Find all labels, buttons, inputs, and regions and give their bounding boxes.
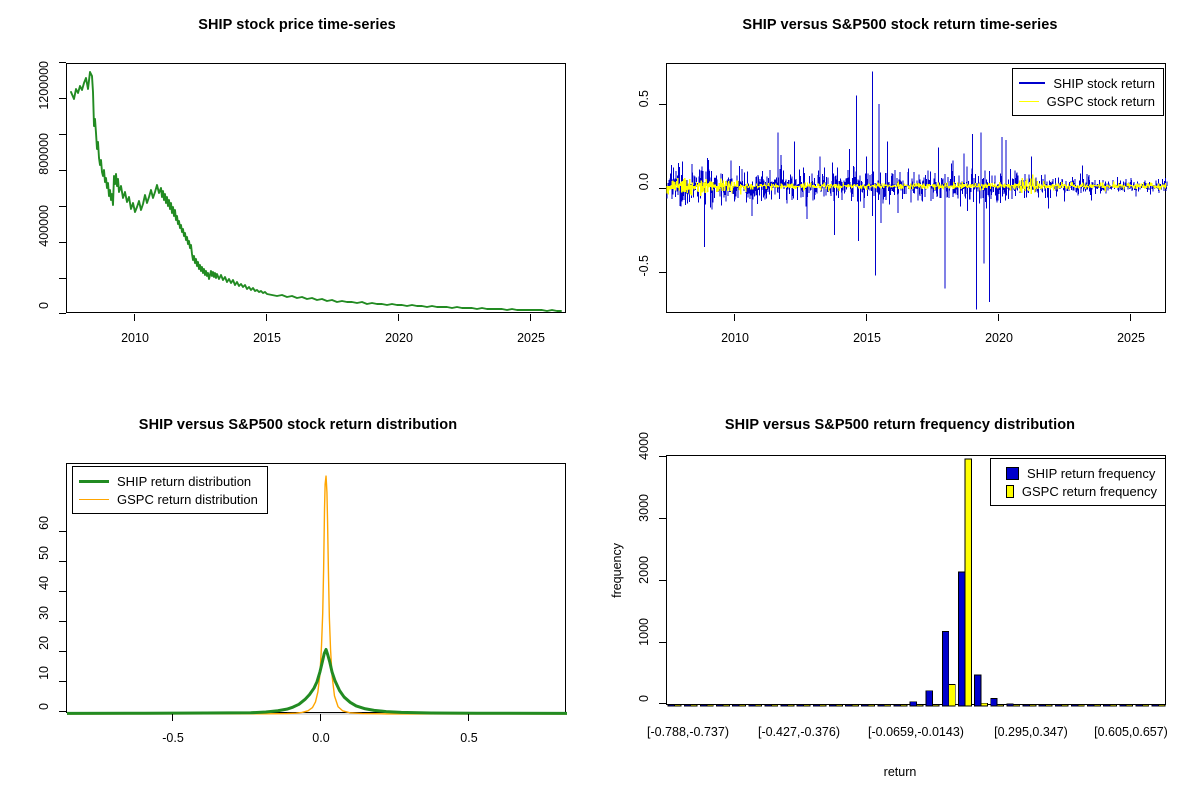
legend-item: SHIP return distribution bbox=[79, 472, 259, 490]
y-tick-label: 1200000 bbox=[37, 61, 51, 110]
x-tick-label: 2020 bbox=[385, 331, 413, 345]
x-tick-label: 2015 bbox=[253, 331, 281, 345]
y-tickmark bbox=[59, 711, 66, 712]
x-tickmark bbox=[1130, 314, 1131, 321]
legend-label: SHIP stock return bbox=[1053, 77, 1155, 90]
legend-item: SHIP return frequency bbox=[997, 464, 1157, 482]
y-tick-label: 400000 bbox=[37, 205, 51, 247]
y-tick-label: 10 bbox=[37, 666, 51, 680]
y-tick-label: 20 bbox=[37, 636, 51, 650]
panel-title: SHIP versus S&P500 return frequency dist… bbox=[600, 417, 1200, 433]
y-tickmark bbox=[659, 580, 666, 581]
panel-ship-vs-gspc-return-timeseries: SHIP versus S&P500 stock return time-ser… bbox=[600, 0, 1200, 400]
y-tickmark bbox=[659, 642, 666, 643]
x-tickmark bbox=[134, 314, 135, 321]
legend-label: GSPC return frequency bbox=[1022, 485, 1157, 498]
legend-item: SHIP stock return bbox=[1019, 74, 1155, 92]
x-tick-label: 2010 bbox=[721, 331, 749, 345]
x-tickmark bbox=[172, 714, 173, 721]
y-tickmark bbox=[59, 134, 66, 135]
legend-label: GSPC return distribution bbox=[117, 493, 258, 506]
panel-title: SHIP versus S&P500 stock return distribu… bbox=[0, 417, 600, 433]
x-tickmark bbox=[866, 314, 867, 321]
y-tickmark bbox=[659, 104, 666, 105]
y-tick-label: 40 bbox=[37, 576, 51, 590]
y-tickmark bbox=[59, 278, 66, 279]
panel-ship-price-timeseries: SHIP stock price time-series 0 400000 80… bbox=[0, 0, 600, 400]
y-tick-label: 60 bbox=[37, 516, 51, 530]
y-tick-label: 0.0 bbox=[637, 173, 651, 190]
y-tickmark bbox=[59, 206, 66, 207]
y-tickmark bbox=[59, 170, 66, 171]
y-tick-label: 0 bbox=[37, 703, 51, 710]
y-tick-label: 0 bbox=[637, 695, 651, 702]
x-tick-label: 2010 bbox=[121, 331, 149, 345]
ship-price-line bbox=[67, 64, 567, 314]
y-tick-label: 800000 bbox=[37, 133, 51, 175]
y-tick-label: 50 bbox=[37, 546, 51, 560]
y-tickmark bbox=[59, 313, 66, 314]
x-tickmark bbox=[998, 314, 999, 321]
x-tick-label: 2015 bbox=[853, 331, 881, 345]
y-tickmark bbox=[59, 591, 66, 592]
x-tickmark bbox=[266, 314, 267, 321]
x-tick-label: 2025 bbox=[517, 331, 545, 345]
legend-line-gspc bbox=[1019, 101, 1039, 102]
legend-line-ship bbox=[1019, 82, 1045, 84]
y-tickmark bbox=[59, 561, 66, 562]
legend-line-gspc bbox=[79, 499, 109, 500]
legend-swatch-gspc bbox=[1006, 485, 1014, 498]
x-tick-label: 0.5 bbox=[460, 731, 477, 745]
x-tick-label: [0.605,0.657) bbox=[1094, 725, 1168, 739]
y-tickmark bbox=[59, 62, 66, 63]
y-tickmark bbox=[659, 188, 666, 189]
x-tick-label: 2020 bbox=[985, 331, 1013, 345]
panel-ship-vs-gspc-return-frequency: SHIP versus S&P500 return frequency dist… bbox=[600, 400, 1200, 800]
y-tick-label: 30 bbox=[37, 606, 51, 620]
plot-area bbox=[66, 63, 566, 313]
legend-label: GSPC stock return bbox=[1047, 95, 1155, 108]
y-tickmark bbox=[59, 98, 66, 99]
y-tick-label: 0 bbox=[37, 302, 51, 309]
legend-item: GSPC stock return bbox=[1019, 92, 1155, 110]
y-tick-label: 0.5 bbox=[637, 90, 651, 107]
legend: SHIP stock return GSPC stock return bbox=[1012, 68, 1164, 116]
x-axis-title: return bbox=[600, 765, 1200, 779]
legend-label: SHIP return frequency bbox=[1027, 467, 1155, 480]
y-tick-label: -0.5 bbox=[637, 255, 651, 277]
y-tickmark bbox=[59, 242, 66, 243]
x-tick-label: 2025 bbox=[1117, 331, 1145, 345]
y-tickmark bbox=[659, 703, 666, 704]
y-tick-label: 1000 bbox=[637, 618, 651, 646]
y-axis-title: frequency bbox=[610, 543, 624, 598]
x-tickmark bbox=[530, 314, 531, 321]
y-tickmark bbox=[59, 531, 66, 532]
x-tickmark bbox=[734, 314, 735, 321]
y-tickmark bbox=[659, 518, 666, 519]
panel-ship-vs-gspc-return-distribution: SHIP versus S&P500 stock return distribu… bbox=[0, 400, 600, 800]
y-tick-label: 4000 bbox=[637, 432, 651, 460]
y-tickmark bbox=[59, 681, 66, 682]
x-tick-label: [-0.0659,-0.0143) bbox=[868, 725, 964, 739]
legend-item: GSPC return frequency bbox=[997, 482, 1157, 500]
legend-item: GSPC return distribution bbox=[79, 490, 259, 508]
legend-label: SHIP return distribution bbox=[117, 475, 251, 488]
y-tick-label: 2000 bbox=[637, 556, 651, 584]
x-tickmark bbox=[398, 314, 399, 321]
legend: SHIP return frequency GSPC return freque… bbox=[990, 458, 1166, 506]
panel-title: SHIP versus S&P500 stock return time-ser… bbox=[600, 17, 1200, 33]
y-tickmark bbox=[659, 272, 666, 273]
x-tick-label: 0.0 bbox=[312, 731, 329, 745]
x-tickmark bbox=[320, 714, 321, 721]
y-tickmark bbox=[59, 621, 66, 622]
x-tickmark bbox=[468, 714, 469, 721]
y-tick-label: 3000 bbox=[637, 494, 651, 522]
x-tick-label: -0.5 bbox=[162, 731, 184, 745]
legend: SHIP return distribution GSPC return dis… bbox=[72, 466, 268, 514]
y-tickmark bbox=[59, 651, 66, 652]
panel-title: SHIP stock price time-series bbox=[0, 17, 600, 33]
y-tickmark bbox=[659, 456, 666, 457]
figure-grid: SHIP stock price time-series 0 400000 80… bbox=[0, 0, 1200, 800]
legend-swatch-ship bbox=[1006, 467, 1019, 480]
x-tick-label: [0.295,0.347) bbox=[994, 725, 1068, 739]
x-tick-label: [-0.788,-0.737) bbox=[647, 725, 729, 739]
legend-line-ship bbox=[79, 480, 109, 483]
x-tick-label: [-0.427,-0.376) bbox=[758, 725, 840, 739]
